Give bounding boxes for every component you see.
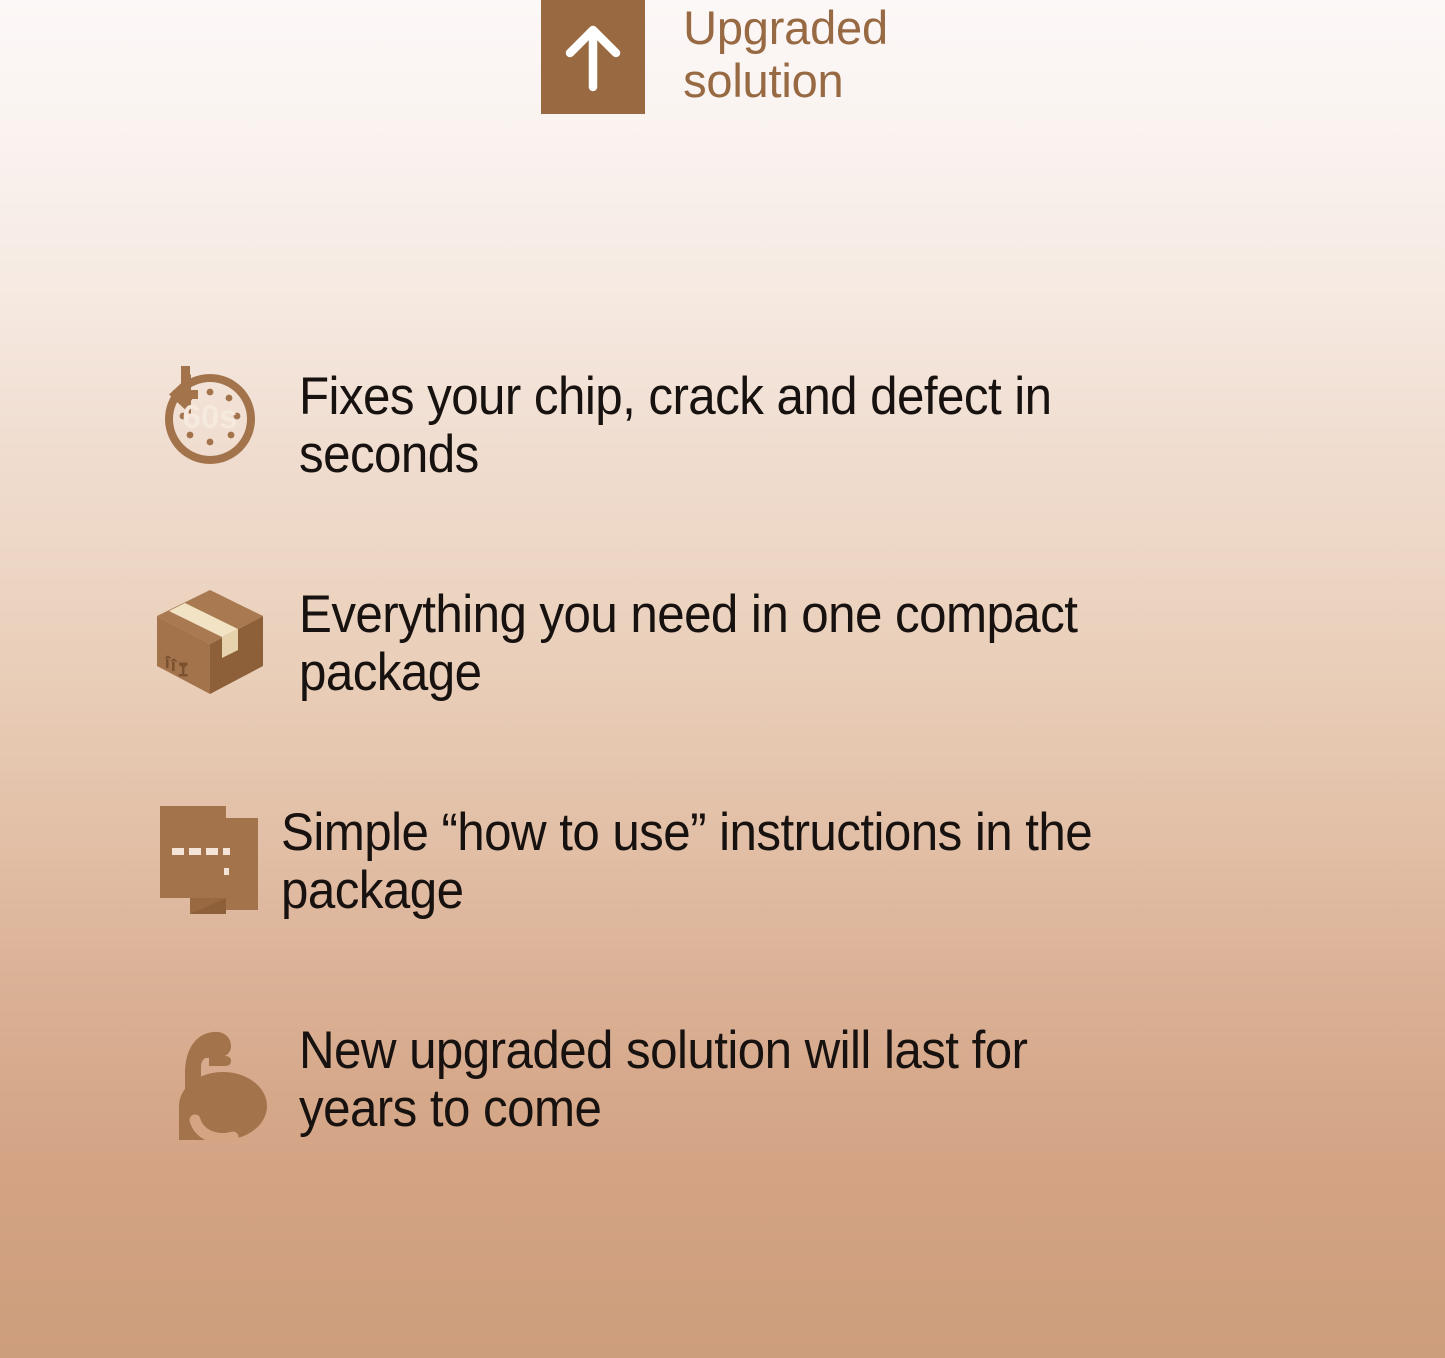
svg-text:60s: 60s — [182, 398, 237, 435]
header: Upgraded solution — [0, 0, 1445, 120]
feature-list: 60s Fixes your chip, crack and defect in… — [0, 352, 1445, 1224]
list-item: 60s Fixes your chip, crack and defect in… — [0, 352, 1445, 570]
list-item: New upgraded solution will last for year… — [0, 1006, 1445, 1224]
feature-text: Fixes your chip, crack and defect in sec… — [299, 352, 1051, 484]
feature-icon-wrap — [145, 788, 275, 920]
shipping-box-icon — [149, 586, 271, 698]
feature-text: New upgraded solution will last for year… — [299, 1006, 1027, 1138]
feature-icon-wrap: 60s — [145, 352, 275, 472]
header-inner: Upgraded solution — [541, 0, 888, 114]
flexed-bicep-icon — [149, 1020, 271, 1142]
arrow-up-icon — [562, 19, 624, 95]
feature-icon-wrap — [145, 570, 275, 698]
feature-icon-wrap — [145, 1006, 275, 1142]
60s-timer-icon: 60s — [151, 360, 269, 472]
list-item: Everything you need in one compact packa… — [0, 570, 1445, 788]
folded-leaflet-icon — [150, 798, 270, 920]
list-item: Simple “how to use” instructions in the … — [0, 788, 1445, 1006]
feature-text: Everything you need in one compact packa… — [299, 570, 1077, 702]
page-title: Upgraded solution — [683, 0, 888, 107]
feature-text: Simple “how to use” instructions in the … — [281, 788, 1092, 920]
upgraded-badge — [541, 0, 645, 114]
